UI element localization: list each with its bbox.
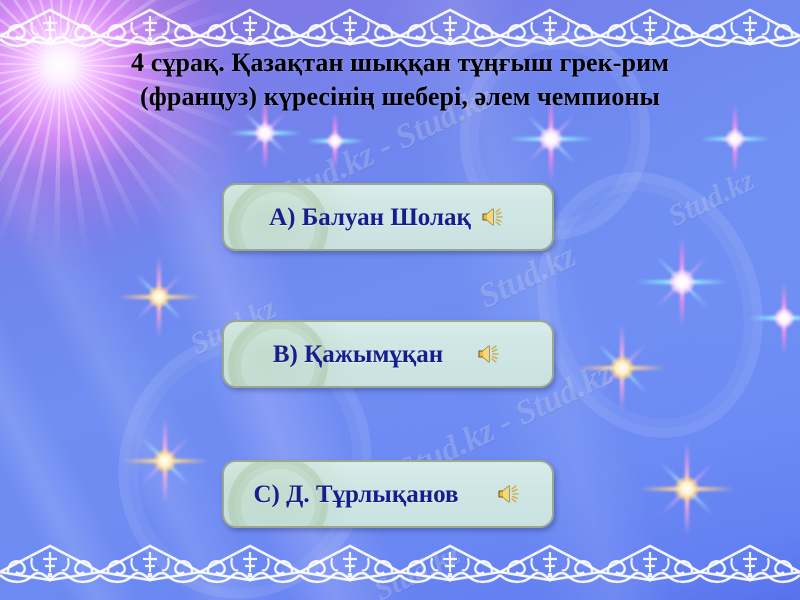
speaker-icon[interactable] (481, 206, 507, 228)
answer-option-b-label: В) Қажымұқан (273, 342, 443, 367)
answer-options-list: А) Балуан Шолақ В) Қажымұқан (0, 0, 800, 600)
answer-option-b[interactable]: В) Қажымұқан (222, 320, 554, 388)
answer-option-c-label: С) Д. Тұрлықанов (253, 482, 458, 507)
speaker-icon[interactable] (497, 483, 523, 505)
answer-option-a[interactable]: А) Балуан Шолақ (222, 183, 554, 251)
speaker-icon[interactable] (477, 343, 503, 365)
quiz-slide: Stud.kz - Stud.kz Stud.kz Stud.kz - Stud… (0, 0, 800, 600)
answer-option-a-label: А) Балуан Шолақ (269, 205, 471, 230)
answer-option-c[interactable]: С) Д. Тұрлықанов (222, 460, 554, 528)
